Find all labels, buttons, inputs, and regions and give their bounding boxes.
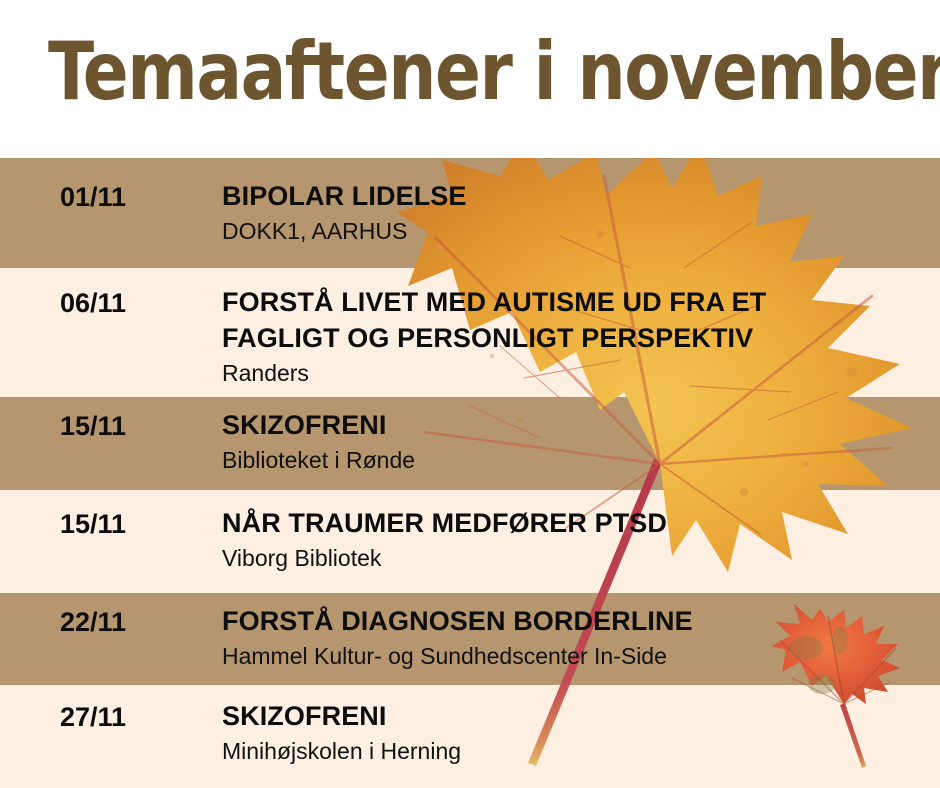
event-info: SKIZOFRENI Biblioteket i Rønde bbox=[222, 407, 930, 475]
event-title: SKIZOFRENI bbox=[222, 407, 930, 443]
event-info: FORSTÅ LIVET MED AUTISME UD FRA ET FAGLI… bbox=[222, 284, 930, 388]
event-date: 22/11 bbox=[60, 607, 126, 638]
event-title: FORSTÅ DIAGNOSEN BORDERLINE bbox=[222, 603, 930, 639]
event-date: 27/11 bbox=[60, 702, 126, 733]
event-info: NÅR TRAUMER MEDFØRER PTSD Viborg Bibliot… bbox=[222, 505, 930, 573]
poster-canvas: 01/11 BIPOLAR LIDELSE DOKK1, AARHUS 06/1… bbox=[0, 0, 940, 788]
event-venue: Biblioteket i Rønde bbox=[222, 445, 930, 475]
event-venue: Viborg Bibliotek bbox=[222, 543, 930, 573]
event-info: FORSTÅ DIAGNOSEN BORDERLINE Hammel Kultu… bbox=[222, 603, 930, 671]
event-row: 15/11 NÅR TRAUMER MEDFØRER PTSD Viborg B… bbox=[0, 490, 940, 593]
page-title: Temaaftener i november bbox=[48, 24, 940, 120]
event-title: SKIZOFRENI bbox=[222, 698, 930, 734]
event-row: 22/11 FORSTÅ DIAGNOSEN BORDERLINE Hammel… bbox=[0, 593, 940, 685]
event-row: 15/11 SKIZOFRENI Biblioteket i Rønde bbox=[0, 397, 940, 490]
event-row: 01/11 BIPOLAR LIDELSE DOKK1, AARHUS bbox=[0, 158, 940, 268]
poster-header: Temaaftener i november bbox=[0, 0, 940, 158]
event-date: 15/11 bbox=[60, 411, 126, 442]
event-date: 01/11 bbox=[60, 182, 126, 213]
event-venue: Hammel Kultur- og Sundhedscenter In-Side bbox=[222, 641, 930, 671]
event-date: 06/11 bbox=[60, 288, 126, 319]
event-venue: Minihøjskolen i Herning bbox=[222, 736, 930, 766]
event-date: 15/11 bbox=[60, 509, 126, 540]
event-venue: DOKK1, AARHUS bbox=[222, 216, 930, 246]
event-title: FORSTÅ LIVET MED AUTISME UD FRA ET FAGLI… bbox=[222, 284, 930, 356]
event-title: BIPOLAR LIDELSE bbox=[222, 178, 930, 214]
event-row: 06/11 FORSTÅ LIVET MED AUTISME UD FRA ET… bbox=[0, 268, 940, 397]
event-info: BIPOLAR LIDELSE DOKK1, AARHUS bbox=[222, 178, 930, 246]
event-title: NÅR TRAUMER MEDFØRER PTSD bbox=[222, 505, 930, 541]
event-row: 27/11 SKIZOFRENI Minihøjskolen i Herning bbox=[0, 685, 940, 788]
event-venue: Randers bbox=[222, 358, 930, 388]
event-info: SKIZOFRENI Minihøjskolen i Herning bbox=[222, 698, 930, 766]
